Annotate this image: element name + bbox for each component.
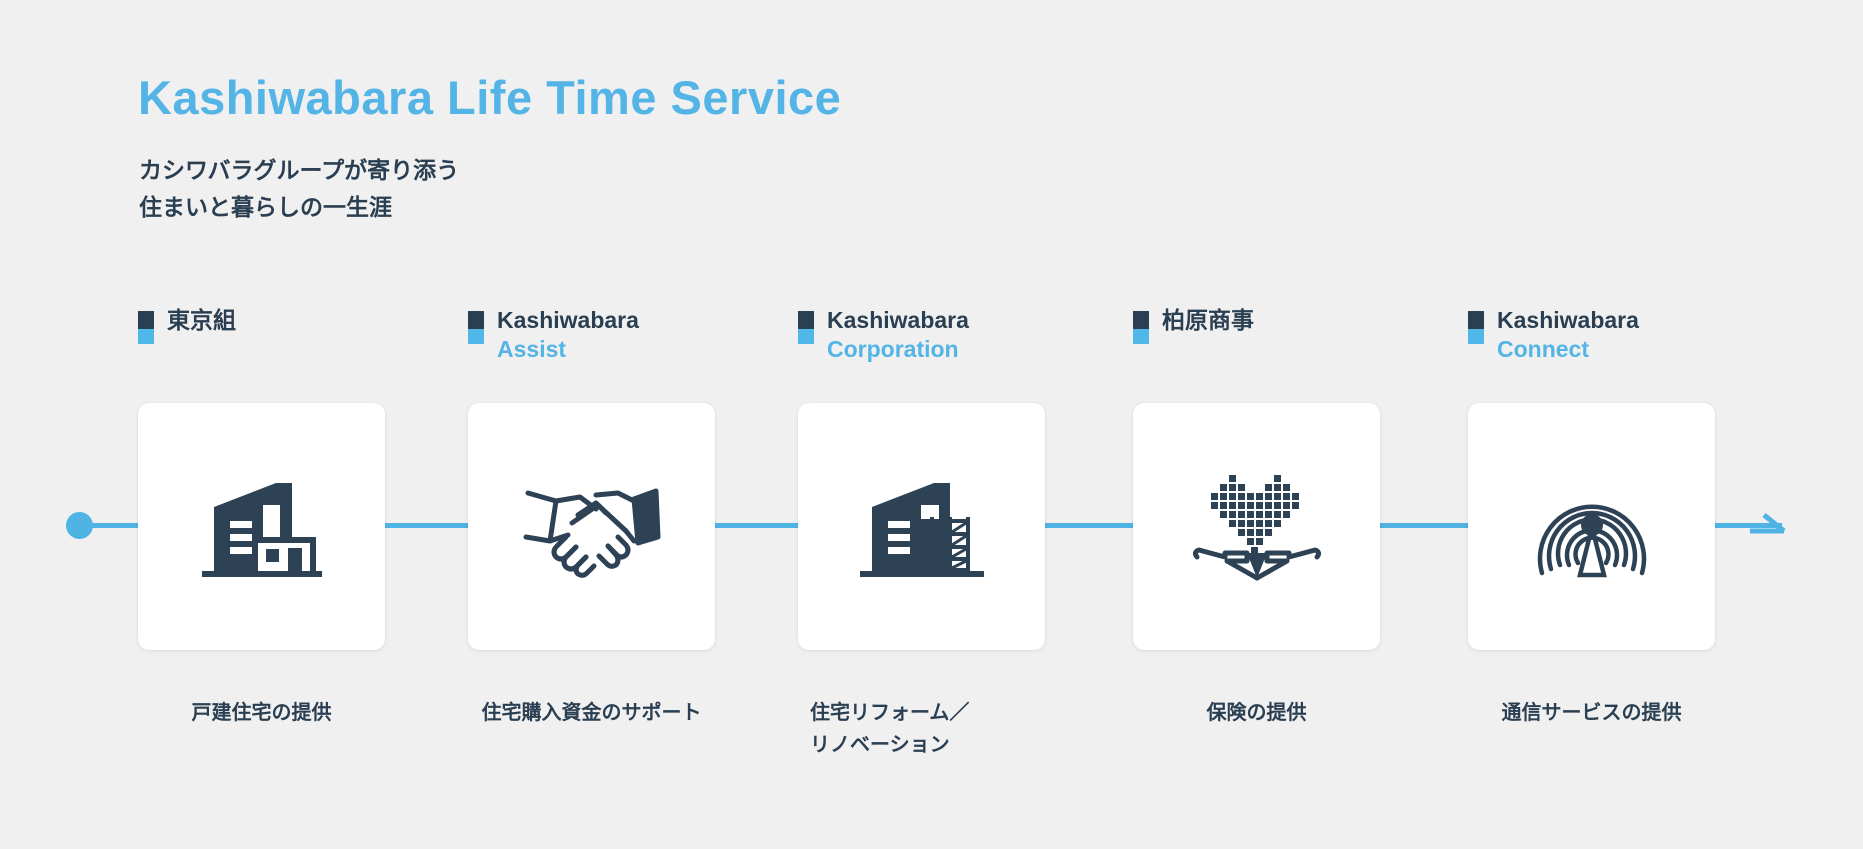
step-company-name-1: 東京組 <box>167 306 236 335</box>
step-caption-3: 住宅リフォーム／ リノベーション <box>798 697 1045 762</box>
timeline-arrow-icon <box>1742 503 1788 548</box>
step-label-text-1: 東京組 <box>167 306 236 335</box>
step-label-text-3: Kashiwabara Corporation <box>827 306 969 365</box>
step-company-name-3: Kashiwabara <box>827 306 969 335</box>
step-label-2: Kashiwabara Assist <box>468 306 639 365</box>
bullet-square-icon <box>1133 311 1149 344</box>
heart-in-hands-icon <box>1191 473 1323 581</box>
step-card-2[interactable] <box>468 403 715 650</box>
building-scaffold-icon <box>858 475 986 579</box>
step-label-text-5: Kashiwabara Connect <box>1497 306 1639 365</box>
step-company-name-4: 柏原商事 <box>1162 306 1254 335</box>
lifetime-service-diagram: Kashiwabara Life Time Service カシワバラグループが… <box>0 0 1863 849</box>
step-label-1: 東京組 <box>138 306 236 344</box>
step-company-name-5: Kashiwabara <box>1497 306 1639 335</box>
step-label-5: Kashiwabara Connect <box>1468 306 1639 365</box>
step-card-1[interactable] <box>138 403 385 650</box>
bullet-square-icon <box>798 311 814 344</box>
detached-house-icon <box>200 475 324 579</box>
step-company-sub-3: Corporation <box>827 335 969 364</box>
step-company-name-2: Kashiwabara <box>497 306 639 335</box>
step-card-4[interactable] <box>1133 403 1380 650</box>
step-caption-4: 保険の提供 <box>1133 697 1380 729</box>
step-card-5[interactable] <box>1468 403 1715 650</box>
bullet-square-icon <box>138 311 154 344</box>
step-label-3: Kashiwabara Corporation <box>798 306 969 365</box>
step-caption-1: 戸建住宅の提供 <box>138 697 385 729</box>
step-label-4: 柏原商事 <box>1133 306 1254 344</box>
step-caption-2: 住宅購入資金のサポート <box>468 697 715 729</box>
handshake-icon <box>522 475 662 579</box>
page-subtitle: カシワバラグループが寄り添う 住まいと暮らしの一生涯 <box>139 152 459 227</box>
step-company-sub-5: Connect <box>1497 335 1639 364</box>
step-company-sub-2: Assist <box>497 335 639 364</box>
antenna-signal-icon <box>1536 473 1648 581</box>
step-label-text-4: 柏原商事 <box>1162 306 1254 335</box>
step-label-text-2: Kashiwabara Assist <box>497 306 639 365</box>
step-card-3[interactable] <box>798 403 1045 650</box>
bullet-square-icon <box>468 311 484 344</box>
bullet-square-icon <box>1468 311 1484 344</box>
page-title: Kashiwabara Life Time Service <box>138 70 841 125</box>
step-caption-5: 通信サービスの提供 <box>1468 697 1715 729</box>
